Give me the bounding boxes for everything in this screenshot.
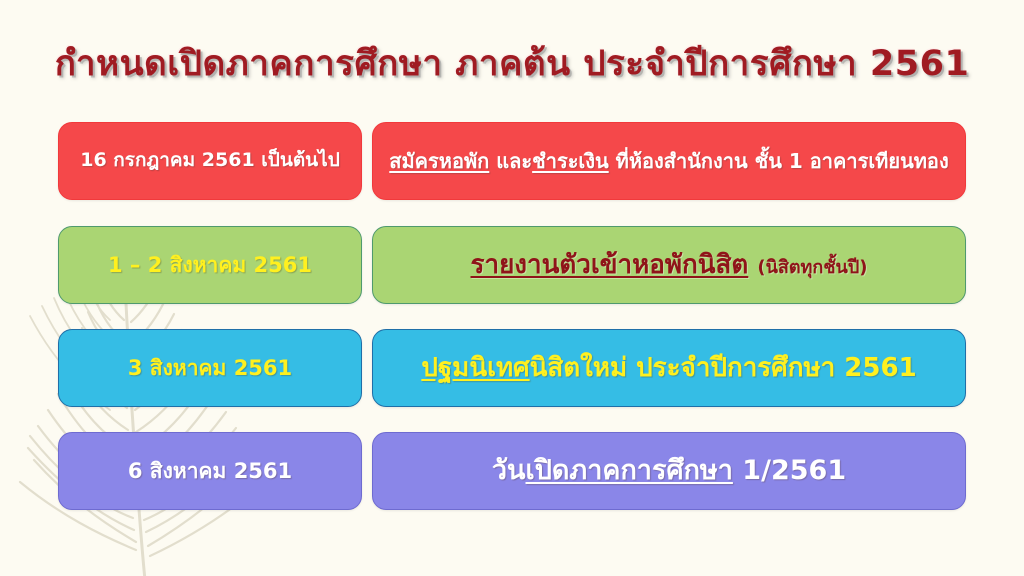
- infographic-canvas: กำหนดเปิดภาคการศึกษา ภาคต้น ประจำปีการศึ…: [0, 0, 1024, 576]
- date-box-registration: 16 กรกฎาคม 2561 เป็นต้นไป: [58, 122, 362, 200]
- desc-box-orientation: ปฐมนิเทศนิสิตใหม่ ประจำปีการศึกษา 2561: [372, 329, 966, 407]
- desc-segment: เปิดภาคการศึกษา: [526, 455, 733, 486]
- date-box-checkin: 1 – 2 สิงหาคม 2561: [58, 226, 362, 304]
- desc-segment-note: (นิสิตทุกชั้นปี): [757, 257, 867, 278]
- schedule-row: 16 กรกฎาคม 2561 เป็นต้นไป สมัครหอพัก และ…: [58, 122, 966, 200]
- desc-segment: ปฐมนิเทศ: [421, 353, 529, 383]
- desc-segment: สมัครหอพัก: [389, 149, 489, 173]
- schedule-row: 3 สิงหาคม 2561 ปฐมนิเทศนิสิตใหม่ ประจำปี…: [58, 329, 966, 407]
- desc-label: สมัครหอพัก และชำระเงิน ที่ห้องสำนักงาน ช…: [389, 149, 948, 174]
- desc-box-checkin: รายงานตัวเข้าหอพักนิสิต (นิสิตทุกชั้นปี): [372, 226, 966, 304]
- desc-box-registration: สมัครหอพัก และชำระเงิน ที่ห้องสำนักงาน ช…: [372, 122, 966, 200]
- date-label: 3 สิงหาคม 2561: [128, 355, 292, 381]
- schedule-row: 6 สิงหาคม 2561 วันเปิดภาคการศึกษา 1/2561: [58, 432, 966, 510]
- desc-box-semester-open: วันเปิดภาคการศึกษา 1/2561: [372, 432, 966, 510]
- desc-segment: นิสิตใหม่ ประจำปีการศึกษา 2561: [530, 353, 917, 383]
- desc-segment: รายงานตัวเข้าหอพักนิสิต: [471, 250, 749, 280]
- desc-segment: [748, 250, 757, 280]
- desc-label: รายงานตัวเข้าหอพักนิสิต (นิสิตทุกชั้นปี): [471, 249, 868, 282]
- desc-segment: วัน: [492, 455, 526, 486]
- date-label: 1 – 2 สิงหาคม 2561: [108, 252, 312, 278]
- date-label: 16 กรกฎาคม 2561 เป็นต้นไป: [80, 149, 340, 173]
- desc-label: วันเปิดภาคการศึกษา 1/2561: [492, 454, 846, 488]
- desc-segment: 1/2561: [733, 455, 846, 486]
- schedule-row: 1 – 2 สิงหาคม 2561 รายงานตัวเข้าหอพักนิส…: [58, 226, 966, 304]
- desc-segment: และ: [489, 149, 532, 173]
- desc-segment: ที่ห้องสำนักงาน ชั้น 1 อาคารเทียนทอง: [609, 149, 949, 173]
- date-label: 6 สิงหาคม 2561: [128, 458, 292, 484]
- page-title: กำหนดเปิดภาคการศึกษา ภาคต้น ประจำปีการศึ…: [0, 40, 1024, 88]
- date-box-orientation: 3 สิงหาคม 2561: [58, 329, 362, 407]
- desc-label: ปฐมนิเทศนิสิตใหม่ ประจำปีการศึกษา 2561: [421, 352, 916, 385]
- desc-segment: ชำระเงิน: [532, 149, 609, 173]
- date-box-semester-open: 6 สิงหาคม 2561: [58, 432, 362, 510]
